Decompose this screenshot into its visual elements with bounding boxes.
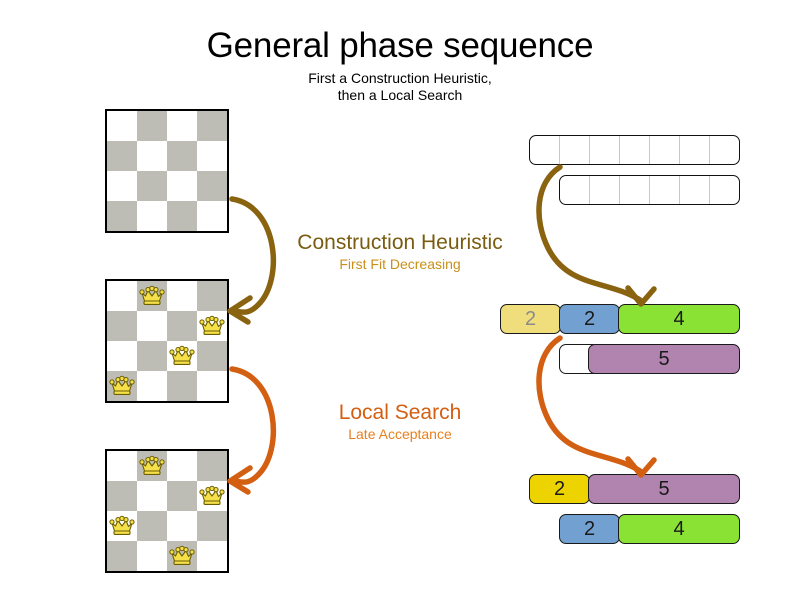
board-cell	[137, 281, 167, 311]
board-cell	[167, 541, 197, 571]
board-cell	[197, 371, 227, 401]
board-cell	[107, 171, 137, 201]
board-cell	[137, 541, 167, 571]
bin-item-blue-2-final: 2	[559, 514, 620, 544]
board-cell	[197, 141, 227, 171]
phase-label-local-search: Local Search Late Acceptance	[210, 400, 590, 444]
chessboard-initial	[105, 109, 229, 233]
page-subtitle: First a Construction Heuristic, then a L…	[0, 70, 800, 104]
board-cell	[107, 281, 137, 311]
page-title: General phase sequence	[0, 28, 800, 65]
chessboard-construction	[105, 279, 229, 403]
board-cell	[167, 311, 197, 341]
bin-item-pale-2: 2	[500, 304, 561, 334]
board-cell	[137, 511, 167, 541]
board-cell	[167, 111, 197, 141]
phase-algorithm-late-acceptance: Late Acceptance	[210, 425, 590, 444]
board-cell	[197, 451, 227, 481]
phase-label-construction-heuristic: Construction Heuristic First Fit Decreas…	[210, 230, 590, 274]
queen-icon	[169, 544, 195, 568]
board-cell	[167, 171, 197, 201]
board-cell	[167, 281, 197, 311]
board-cell	[197, 171, 227, 201]
board-cell	[107, 451, 137, 481]
board-cell	[197, 541, 227, 571]
queen-icon	[139, 454, 165, 478]
queen-icon	[169, 344, 195, 368]
board-cell	[197, 511, 227, 541]
board-cell	[107, 541, 137, 571]
board-cell	[107, 341, 137, 371]
board-cell	[137, 201, 167, 231]
slide-canvas: General phase sequence First a Construct…	[0, 0, 800, 600]
bin-empty-row-1	[529, 135, 740, 165]
queen-icon	[199, 484, 225, 508]
subtitle-line-2: then a Local Search	[0, 87, 800, 104]
chessboard-local-search	[105, 449, 229, 573]
queen-icon	[109, 514, 135, 538]
board-cell	[167, 341, 197, 371]
bin-item-green-4-final: 4	[618, 514, 740, 544]
bin-empty-row-2	[559, 175, 740, 205]
board-cell	[167, 141, 197, 171]
phase-name-construction-heuristic: Construction Heuristic	[210, 230, 590, 255]
board-cell	[107, 111, 137, 141]
bin-item-purple-5-final: 5	[588, 474, 740, 504]
board-cell	[197, 201, 227, 231]
board-cell	[167, 201, 197, 231]
board-cell	[137, 311, 167, 341]
board-cell	[197, 111, 227, 141]
board-cell	[167, 371, 197, 401]
bin-segment-lines	[560, 176, 739, 204]
bin-item-green-4: 4	[618, 304, 740, 334]
board-cell	[197, 311, 227, 341]
board-cell	[137, 451, 167, 481]
board-cell	[137, 111, 167, 141]
phase-algorithm-first-fit-decreasing: First Fit Decreasing	[210, 255, 590, 274]
bin-item-purple-5: 5	[588, 344, 740, 374]
board-cell	[197, 341, 227, 371]
board-cell	[167, 511, 197, 541]
board-cell	[137, 141, 167, 171]
board-cell	[107, 371, 137, 401]
board-cell	[107, 201, 137, 231]
board-cell	[197, 481, 227, 511]
bin-item-yellow-2: 2	[529, 474, 590, 504]
bin-item-blue-2: 2	[559, 304, 620, 334]
board-cell	[197, 281, 227, 311]
board-cell	[107, 511, 137, 541]
board-cell	[107, 141, 137, 171]
bin-segment-lines	[530, 136, 739, 164]
board-cell	[167, 451, 197, 481]
board-cell	[137, 371, 167, 401]
board-cell	[107, 311, 137, 341]
queen-icon	[199, 314, 225, 338]
phase-name-local-search: Local Search	[210, 400, 590, 425]
board-cell	[137, 171, 167, 201]
board-cell	[167, 481, 197, 511]
queen-icon	[109, 374, 135, 398]
subtitle-line-1: First a Construction Heuristic,	[0, 70, 800, 87]
queen-icon	[139, 284, 165, 308]
board-cell	[107, 481, 137, 511]
board-cell	[137, 481, 167, 511]
board-cell	[137, 341, 167, 371]
